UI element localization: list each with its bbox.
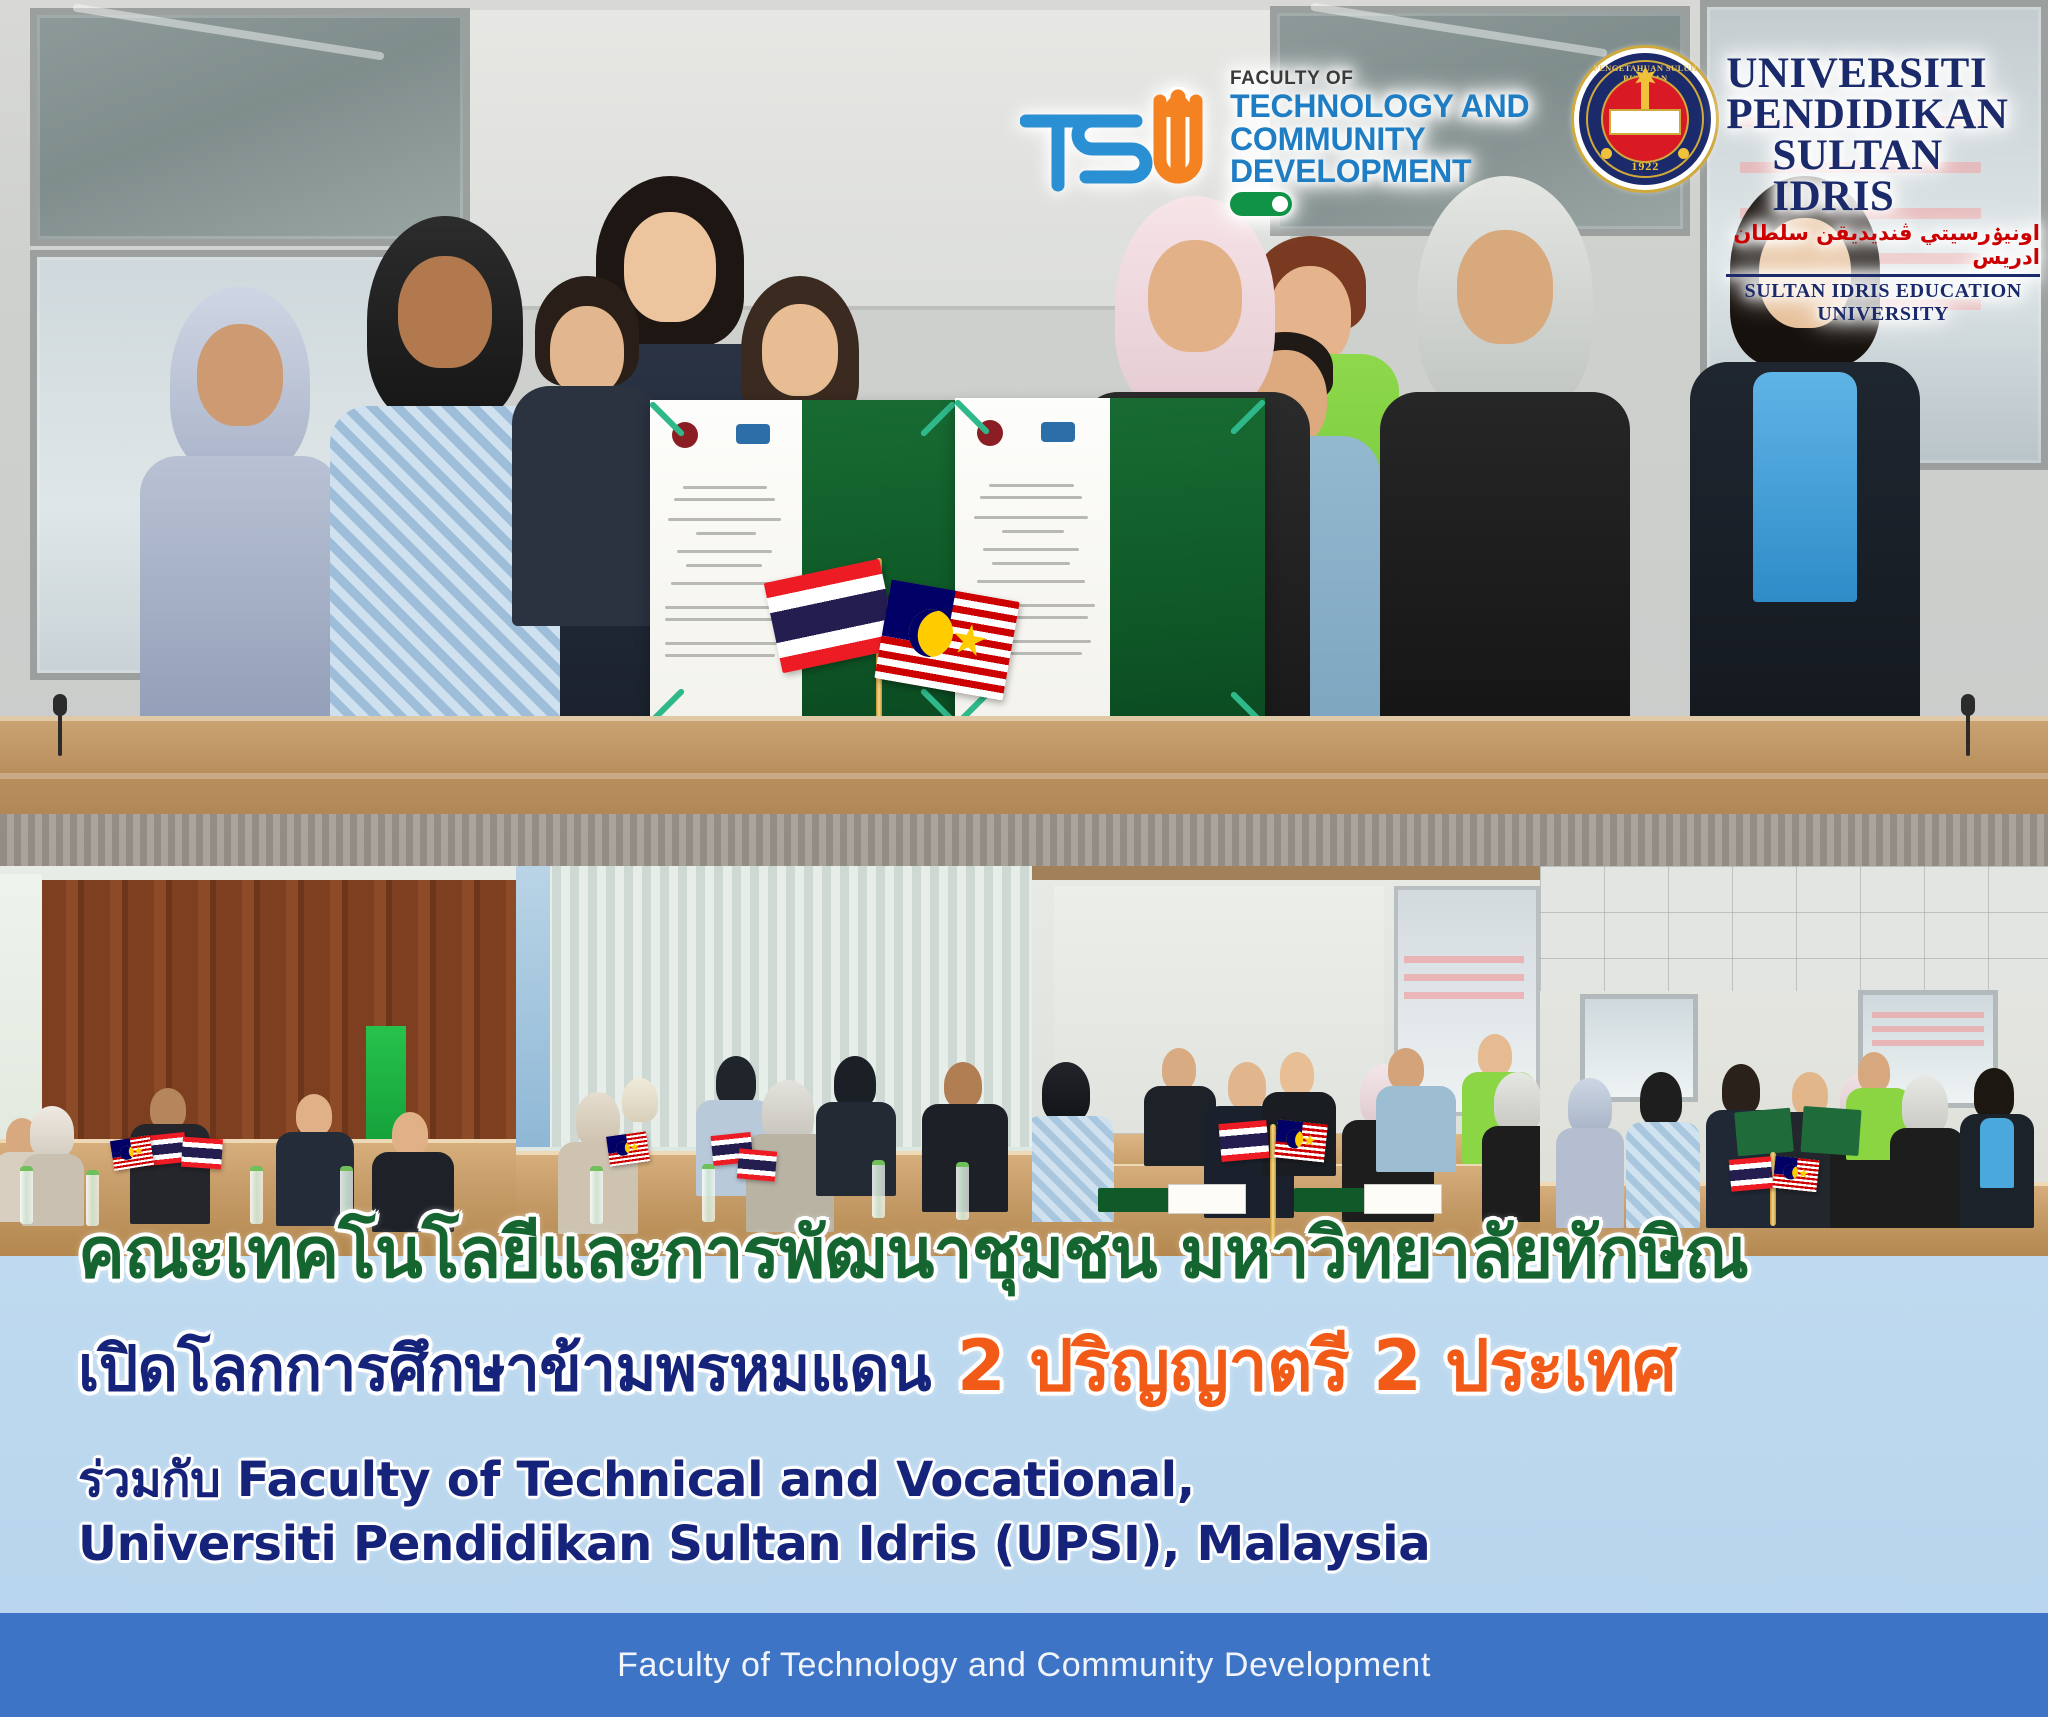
tsu-faculty-of-label: FACULTY OF	[1230, 68, 1558, 90]
footer-bar: Faculty of Technology and Community Deve…	[0, 1613, 2048, 1717]
headline-block: คณะเทคโนโลยีและการพัฒนาชุมชน มหาวิทยาลัย…	[0, 1216, 2048, 1574]
upsi-logo: PENGETAHUAN SULUH BUDIMAN 1922 UNIVERSIT…	[1574, 48, 2040, 326]
upsi-name-english: SULTAN IDRIS EDUCATION UNIVERSITY	[1726, 280, 2040, 326]
headline-line-3: ร่วมกับ Faculty of Technical and Vocatio…	[78, 1451, 2008, 1511]
photo-meeting-wooden-room	[0, 866, 516, 1256]
headline-line-2-navy: เปิดโลกการศึกษาข้ามพรหมแดน	[78, 1320, 931, 1418]
upsi-name-line-3: SULTAN IDRIS	[1726, 136, 2040, 218]
upsi-divider	[1726, 274, 2040, 277]
headline-line-4: Universiti Pendidikan Sultan Idris (UPSI…	[78, 1515, 2008, 1575]
headline-line-2: เปิดโลกการศึกษาข้ามพรหมแดน 2 ปริญญาตรี 2…	[78, 1310, 2008, 1421]
ceiling-tiles	[1540, 866, 2048, 991]
tsu-toggle-icon	[1230, 192, 1292, 216]
tsu-name-line-2: COMMUNITY DEVELOPMENT	[1230, 123, 1558, 188]
microphone-right	[1966, 710, 1970, 756]
tsu-wordmark: FACULTY OF TECHNOLOGY AND COMMUNITY DEVE…	[1230, 68, 1558, 216]
upsi-crest-icon: PENGETAHUAN SULUH BUDIMAN 1922	[1574, 48, 1716, 190]
microphone-left	[58, 710, 62, 756]
person-1-hijab-grey	[140, 286, 340, 716]
headline-line-1: คณะเทคโนโลยีและการพัฒนาชุมชน มหาวิทยาลัย…	[78, 1216, 2008, 1290]
upsi-name-line-1: UNIVERSITI	[1726, 54, 2040, 95]
person-4-back-glasses	[512, 276, 662, 606]
logo-row: FACULTY OF TECHNOLOGY AND COMMUNITY DEVE…	[1020, 48, 2040, 248]
flag-malaysia-signing	[1274, 1119, 1328, 1162]
upsi-crest-year: 1922	[1579, 159, 1711, 174]
flag-thailand-signing	[1218, 1120, 1269, 1162]
tsu-mark-icon	[1020, 87, 1220, 197]
upsi-name-line-2: PENDIDIKAN	[1726, 95, 2040, 136]
photo-strip	[0, 866, 2048, 1256]
upsi-wordmark: UNIVERSITI PENDIDIKAN SULTAN IDRIS اونيۏ…	[1726, 48, 2040, 326]
upsi-name-jawi: اونيۏرسيتي ڤنديديقن سلطان ادريس	[1726, 221, 2040, 269]
headline-line-2-orange: 2 ปริญญาตรี 2 ประเทศ	[957, 1310, 1676, 1421]
photo-signing-ceremony	[1032, 866, 1540, 1256]
conference-table	[0, 716, 2048, 866]
photo-meeting-blinds-room	[516, 866, 1032, 1256]
photo-group-handshake	[1540, 866, 2048, 1256]
poster-canvas: FACULTY OF TECHNOLOGY AND COMMUNITY DEVE…	[0, 0, 2048, 1717]
tsu-logo: FACULTY OF TECHNOLOGY AND COMMUNITY DEVE…	[1020, 68, 1558, 216]
footer-text: Faculty of Technology and Community Deve…	[617, 1646, 1431, 1685]
window-upper-left	[30, 8, 470, 246]
tsu-name-line-1: TECHNOLOGY AND	[1230, 90, 1558, 123]
